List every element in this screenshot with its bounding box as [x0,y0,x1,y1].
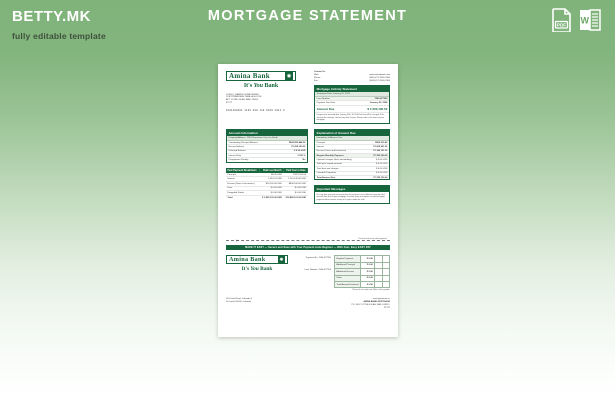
explanation-of-amount-due-box: Explanation of Amount Due Itemization of… [314,129,390,180]
account-info-row: Prepayment PenaltyNo [227,158,307,161]
borrower-address: JOHN Q. SAMPLE HOMEOWNER 1234 TENNESSEE … [226,94,308,106]
amount-due-row: Amount Due $ 7,300,100.52 [315,106,389,113]
coupon-loan-number: Loan Number: 7000-477990 [291,269,331,272]
site-tagline: fully editable template [12,31,106,41]
detach-note: Detach and return with payment [358,238,388,240]
coupon-bank-logo: Amina Bank ✸ It's You Bank [226,255,288,271]
amount-entry-cell[interactable] [375,281,382,287]
amount-entry-cell[interactable] [382,281,389,287]
past-payment-table: Past Payment Breakdown Paid Last Month P… [226,168,308,200]
svg-text:W: W [580,16,589,26]
mortgage-activity-box: Mortgage Activity Statement Statement Da… [314,85,390,124]
bank-name: Amina Bank [229,72,270,80]
activity-note: If payment is received after January 25t… [315,113,389,123]
pdf-file-icon[interactable]: PDF [552,8,572,37]
explanation-total-row: Total Amount Due$7,780,100.00 [315,176,389,179]
important-messages-box: Important Messages If at any time any am… [314,185,390,203]
coupon-payment-number: Payment No: 7000-477990 [291,257,331,260]
statement-document[interactable]: Amina Bank ✸ It's You Bank JOHN Q. SAMPL… [218,64,398,337]
page-title: MORTGAGE STATEMENT [0,8,615,24]
bank-emblem-icon: ✸ [285,72,293,80]
bank-logo: Amina Bank ✸ It's You Bank [226,71,296,89]
barcode-line: 0101100101 1101 010 110 0100 1011 0 [226,109,308,112]
word-file-icon[interactable]: W [579,8,601,37]
coupon-bank-tagline: It's You Bank [226,266,288,272]
detach-line: ✂ Detach and return with payment [226,240,390,245]
payment-amount-grid[interactable]: Regular Payment $ 0.00 Additional Princi… [334,255,390,288]
bank-tagline: It's You Bank [226,83,296,89]
contact-row: Fax(844) 417-7000-7000 [314,79,390,82]
svg-text:PDF: PDF [557,23,566,28]
coupon-bank-emblem-icon: ✸ [278,256,285,263]
scissors-icon: ✂ [236,238,239,243]
bank-address-block: 100 Oaks Road, Colombo 3 Sri Lanka 00100… [226,298,306,304]
coupon-footer-note: Please do not send cash. Make check paya… [334,288,390,291]
contact-block: Contact Us Webwww.aminabank.com Phone(80… [314,71,390,82]
account-information-box: Account Information Property Address: 12… [226,129,308,163]
promo-banner: MAKE IT EASY — Secure and Save with Your… [226,245,390,251]
messages-body: If at any time any amount received on th… [315,192,389,202]
file-format-icons: PDF W [552,8,601,37]
coupon-total-row[interactable]: Total Amount Enclosed $ 0.00 [335,281,390,287]
remittance-address-block: send payments to: AMINA BANK MORTGAGE P.… [320,298,390,310]
top-banner: BETTY.MK fully editable template MORTGAG… [0,0,615,52]
coupon-bank-name: Amina Bank [229,256,266,263]
table-total-row: Total $ 1,800,101.00 USD $12,880,101.00 … [226,195,308,199]
